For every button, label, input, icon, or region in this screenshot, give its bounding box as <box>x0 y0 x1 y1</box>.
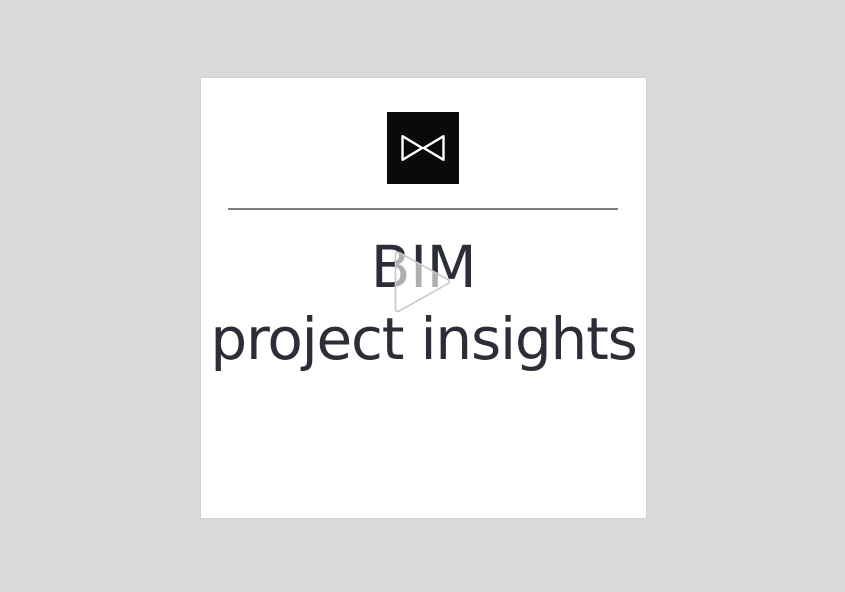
poster-card: BIM project insights <box>201 78 646 518</box>
screen-canvas: BIM project insights <box>0 0 845 592</box>
play-button-overlay[interactable] <box>385 248 455 318</box>
wordmark-line-2: project insights <box>201 310 646 368</box>
play-button-icon[interactable] <box>385 248 455 318</box>
brand-mark-tile <box>387 112 459 184</box>
divider-rule <box>228 208 618 210</box>
bowtie-logo-icon <box>400 133 446 163</box>
